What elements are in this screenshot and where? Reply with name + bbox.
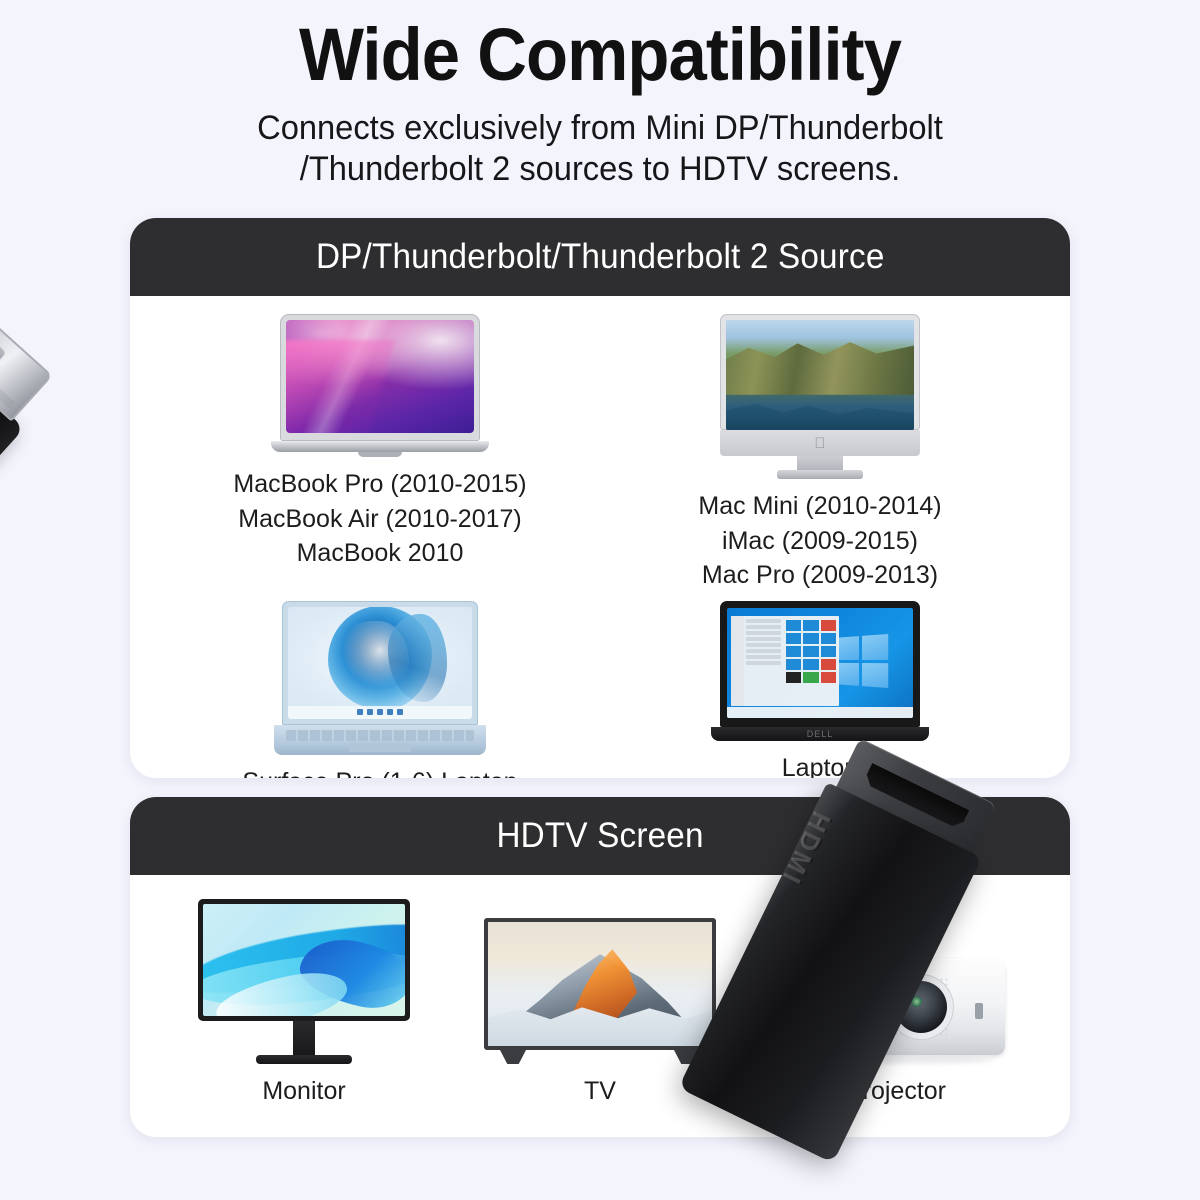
device-label: Mac Pro (2009-2013) <box>698 558 941 593</box>
mini-displayport-plug-icon <box>0 300 360 760</box>
device-label: Mac Mini (2010-2014) <box>698 489 941 524</box>
surface-labels: Surface Pro (1-6) Laptop <box>242 765 517 779</box>
hdmi-female-port-icon: HDMI <box>840 730 1200 1200</box>
hdtv-card-header-label: HDTV Screen <box>496 816 703 856</box>
computer-monitor-icon <box>198 899 410 1064</box>
device-label: iMac (2009-2015) <box>698 524 941 559</box>
source-item-imac:  Mac Mini (2010-2014) iMac (2009-2015) … <box>600 314 1040 593</box>
device-label: Surface Pro (1-6) Laptop <box>242 765 517 779</box>
source-card-header: DP/Thunderbolt/Thunderbolt 2 Source <box>130 218 1070 296</box>
page-title: Wide Compatibility <box>42 16 1158 94</box>
television-icon <box>484 918 716 1064</box>
imac-labels: Mac Mini (2010-2014) iMac (2009-2015) Ma… <box>698 489 941 593</box>
hdtv-item-monitor: Monitor <box>156 899 452 1109</box>
device-label: Monitor <box>262 1074 345 1109</box>
source-card-header-label: DP/Thunderbolt/Thunderbolt 2 Source <box>316 237 885 277</box>
page-subtitle-line-2: /Thunderbolt 2 sources to HDTV screens. <box>24 149 1176 190</box>
monitor-labels: Monitor <box>262 1074 345 1109</box>
apple-logo-icon:  <box>814 436 825 451</box>
page-subtitle: Connects exclusively from Mini DP/Thunde… <box>24 108 1176 191</box>
windows-laptop-icon: DELL <box>711 601 929 741</box>
device-label: TV <box>584 1074 616 1109</box>
infographic-page: Wide Compatibility Connects exclusively … <box>0 0 1200 1200</box>
page-subtitle-line-1: Connects exclusively from Mini DP/Thunde… <box>24 108 1176 149</box>
tv-labels: TV <box>584 1074 616 1109</box>
heading-block: Wide Compatibility Connects exclusively … <box>0 16 1200 191</box>
imac-desktop-icon:  <box>720 314 920 479</box>
